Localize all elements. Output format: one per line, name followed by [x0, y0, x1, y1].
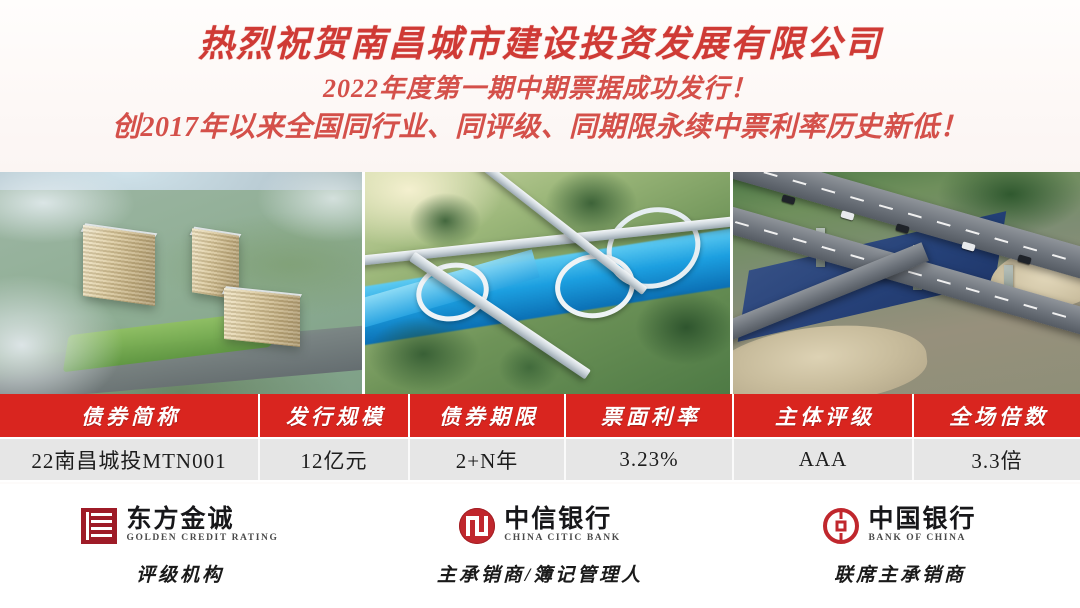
table-cell-issuer-rating: AAA	[732, 439, 912, 480]
table-header-cell: 主体评级	[732, 394, 912, 437]
logo-name-en: CHINA CITIC BANK	[504, 532, 620, 544]
logo-china-citic-bank: 中信银行 CHINA CITIC BANK	[459, 506, 620, 546]
photo-strip	[0, 172, 1080, 394]
partner-bank-of-china: 中国银行 BANK OF CHINA 联席主承销商	[720, 484, 1080, 608]
headline-block: 热烈祝贺南昌城市建设投资发展有限公司 2022年度第一期中期票据成功发行！ 创2…	[0, 0, 1080, 172]
partner-golden-credit-rating: 东方金诚 GOLDEN CREDIT RATING 评级机构	[0, 484, 360, 608]
headline-line-1: 热烈祝贺南昌城市建设投资发展有限公司	[198, 26, 882, 62]
table-row: 22南昌城投MTN001 12亿元 2+N年 3.23% AAA 3.3倍	[0, 437, 1080, 482]
table-cell-issue-size: 12亿元	[258, 439, 408, 480]
table-cell-bond-name: 22南昌城投MTN001	[0, 439, 258, 480]
table-header-cell: 债券期限	[408, 394, 564, 437]
logo-name-cn: 中信银行	[504, 506, 620, 532]
table-header-cell: 全场倍数	[912, 394, 1080, 437]
announcement-poster: 热烈祝贺南昌城市建设投资发展有限公司 2022年度第一期中期票据成功发行！ 创2…	[0, 0, 1080, 608]
partner-role-label: 主承销商/簿记管理人	[437, 560, 643, 587]
table-cell-coupon-rate: 3.23%	[564, 439, 732, 480]
headline-line-2: 2022年度第一期中期票据成功发行！	[323, 76, 757, 102]
table-cell-oversubscription: 3.3倍	[912, 439, 1080, 480]
logo-bank-of-china: 中国银行 BANK OF CHINA	[823, 506, 976, 546]
table-header-cell: 债券简称	[0, 394, 258, 437]
table-cell-tenor: 2+N年	[408, 439, 564, 480]
table-header-cell: 发行规模	[258, 394, 408, 437]
logo-name-en: BANK OF CHINA	[868, 532, 976, 544]
photo-highway-interchange	[362, 172, 730, 394]
logo-name-cn: 东方金诚	[126, 506, 278, 532]
partner-role-label: 联席主承销商	[834, 560, 966, 587]
photo1-haze	[0, 172, 362, 394]
logo-name-cn: 中国银行	[868, 506, 976, 532]
partner-role-label: 评级机构	[136, 560, 224, 587]
logo-golden-credit-rating: 东方金诚 GOLDEN CREDIT RATING	[81, 506, 278, 546]
citic-bank-mark-icon	[459, 508, 495, 544]
bank-of-china-mark-icon	[823, 508, 859, 544]
partner-china-citic-bank: 中信银行 CHINA CITIC BANK 主承销商/簿记管理人	[360, 484, 720, 608]
partners-footer: 东方金诚 GOLDEN CREDIT RATING 评级机构 中信银行 CHIN…	[0, 484, 1080, 608]
bond-details-table: 债券简称 发行规模 债券期限 票面利率 主体评级 全场倍数 22南昌城投MTN0…	[0, 394, 1080, 482]
table-header-cell: 票面利率	[564, 394, 732, 437]
logo-name-en: GOLDEN CREDIT RATING	[126, 532, 278, 544]
photo-elevated-viaduct	[730, 172, 1080, 394]
headline-line-3: 创2017年以来全国同行业、同评级、同期限永续中票利率历史新低！	[112, 114, 968, 142]
golden-credit-rating-mark-icon	[81, 508, 117, 544]
photo-residential-towers	[0, 172, 362, 394]
table-header-row: 债券简称 发行规模 债券期限 票面利率 主体评级 全场倍数	[0, 394, 1080, 437]
